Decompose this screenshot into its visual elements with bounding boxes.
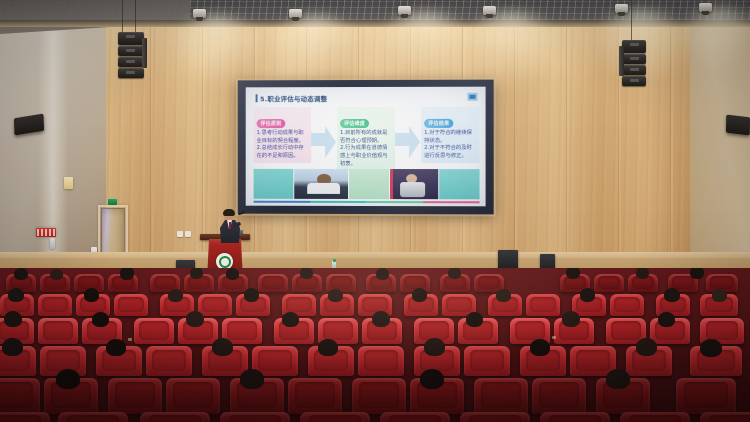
person-head xyxy=(562,311,580,327)
seat[interactable] xyxy=(0,412,50,422)
person-head xyxy=(282,312,299,327)
body-line: 1.目前所有的成就是否符合心理预期。 xyxy=(340,130,392,145)
stage-event-photo xyxy=(390,169,438,199)
person-head xyxy=(530,339,550,356)
light-switch[interactable] xyxy=(177,231,183,237)
body-line: 2.行为成果在道德情感上与职业价值观与初衷。 xyxy=(340,145,392,168)
audience-member xyxy=(372,311,390,327)
speaker-cabinet xyxy=(622,76,646,86)
column-header: 评估原则 xyxy=(257,119,286,128)
audience-member xyxy=(530,339,550,356)
seat[interactable] xyxy=(300,412,370,422)
seat[interactable] xyxy=(460,412,530,422)
person-head xyxy=(376,268,389,280)
column-header: 评估维度 xyxy=(340,119,369,128)
room-shell: 5.职业评估与动态调整 评估原则 1.思考行动成果与职业目标的契合程度。 2.总… xyxy=(0,0,750,422)
audience-member xyxy=(168,289,183,302)
audience-member xyxy=(300,268,313,279)
auditorium-scene: 5.职业评估与动态调整 评估原则 1.思考行动成果与职业目标的契合程度。 2.总… xyxy=(0,0,750,422)
slide-column-principles: 评估原则 1.思考行动成果与职业目标的契合程度。 2.总结成长行动中存在的不足和… xyxy=(254,107,312,163)
flow-arrow-icon xyxy=(311,123,337,157)
seat[interactable] xyxy=(38,294,72,316)
title-accent-bar xyxy=(256,94,257,102)
body-line: 2.总结成长行动中存在的不足和原因。 xyxy=(257,145,309,160)
bar-segment xyxy=(366,201,423,203)
audience-member xyxy=(700,339,722,357)
person-head xyxy=(190,268,203,279)
presenter-hair xyxy=(223,209,235,216)
speaker-rigging-bracket xyxy=(619,46,624,76)
presenter-tie xyxy=(229,222,231,229)
seat-row xyxy=(0,342,750,374)
person-head xyxy=(92,312,109,327)
line-array-speaker-left xyxy=(118,32,144,79)
audience-member xyxy=(690,268,704,279)
ceiling-spotlight xyxy=(699,3,712,12)
audience-member xyxy=(240,369,264,389)
audience-member xyxy=(424,338,445,356)
seat[interactable] xyxy=(352,378,406,414)
seat[interactable] xyxy=(358,346,404,376)
person-head xyxy=(424,338,445,356)
speaker-at-podium-photo xyxy=(294,169,348,199)
seat[interactable] xyxy=(700,412,750,422)
speaker-suspension-wire xyxy=(135,0,136,34)
photo-red-accent xyxy=(390,169,393,199)
person-head xyxy=(240,369,264,389)
aisle-step-light xyxy=(128,338,132,341)
seat-row xyxy=(0,374,750,412)
audience-member xyxy=(562,311,580,327)
audience-member xyxy=(106,339,126,356)
seat[interactable] xyxy=(610,294,644,316)
seat[interactable] xyxy=(134,318,174,344)
speaker-cabinet xyxy=(622,65,646,75)
audience-member xyxy=(580,288,595,302)
audience-member xyxy=(466,312,483,327)
ceiling-spotlight xyxy=(289,9,302,18)
column-body: 1.目前所有的成就是否符合心理预期。 2.行为成果在道德情感上与职业价值观与初衷… xyxy=(340,130,392,168)
audience-member xyxy=(412,288,427,302)
speaker-suspension-wire xyxy=(631,0,632,42)
slide-columns: 评估原则 1.思考行动成果与职业目标的契合程度。 2.总结成长行动中存在的不足和… xyxy=(254,107,480,173)
photo-filler-block xyxy=(349,169,389,199)
person-head xyxy=(372,311,390,327)
person-head xyxy=(168,289,183,302)
bar-segment xyxy=(310,201,366,203)
audience-member xyxy=(376,268,389,280)
person-head xyxy=(186,311,204,327)
speaker-suspension-wire xyxy=(122,0,123,34)
projection-screen[interactable]: 5.职业评估与动态调整 评估原则 1.思考行动成果与职业目标的契合程度。 2.总… xyxy=(238,80,494,215)
audience-member xyxy=(664,288,680,302)
audience-member xyxy=(244,288,259,302)
column-header: 评估结果 xyxy=(424,119,453,128)
seat[interactable] xyxy=(540,412,610,422)
seat[interactable] xyxy=(38,318,78,344)
audience-member xyxy=(448,268,461,279)
seat[interactable] xyxy=(0,378,40,414)
wall-speaker-right xyxy=(726,114,750,135)
audience-member xyxy=(606,369,630,389)
person-head xyxy=(2,338,23,356)
audience-member xyxy=(190,268,203,279)
person-head xyxy=(318,339,338,356)
person-head xyxy=(8,288,24,302)
person-head xyxy=(448,268,461,279)
bar-segment xyxy=(254,201,310,203)
person-head xyxy=(420,369,444,389)
audience-member xyxy=(120,268,134,280)
person-head xyxy=(606,369,630,389)
seat[interactable] xyxy=(380,412,450,422)
slide-column-results: 评估结果 1.对于符合的继续保持状态。 2.对于不符合的及时进行反思与修正。 xyxy=(421,107,479,163)
audience-member xyxy=(50,269,63,280)
person-head xyxy=(496,289,511,302)
speaker-cabinet xyxy=(118,57,144,67)
light-switch[interactable] xyxy=(185,231,191,237)
person-head xyxy=(580,288,595,302)
photo-filler-block xyxy=(439,169,479,199)
audience-member xyxy=(318,339,338,356)
audience-member xyxy=(496,289,511,302)
seat[interactable] xyxy=(108,378,162,414)
audience-member xyxy=(8,288,24,302)
audience-member xyxy=(282,312,299,327)
aisle-step-light xyxy=(552,336,556,339)
person-head xyxy=(4,311,22,327)
seat[interactable] xyxy=(464,346,510,376)
person-head xyxy=(244,288,259,302)
audience-member xyxy=(212,338,233,356)
speaker-cabinet xyxy=(622,54,646,64)
seat[interactable] xyxy=(526,294,560,316)
audience-member xyxy=(566,268,580,279)
speaker-cabinet xyxy=(622,40,646,53)
wall-control-panel[interactable] xyxy=(64,177,73,189)
seat[interactable] xyxy=(146,346,192,376)
body-line: 1.对于符合的继续保持状态。 xyxy=(424,130,476,145)
slide-column-dimensions: 评估维度 1.目前所有的成就是否符合心理预期。 2.行为成果在道德情感上与职业价… xyxy=(337,107,395,170)
audience-member xyxy=(636,268,649,279)
seat-row xyxy=(0,412,750,422)
slide-photo-strip xyxy=(254,169,480,199)
seat[interactable] xyxy=(220,412,290,422)
ceiling-spotlight xyxy=(193,9,206,18)
person-head xyxy=(690,268,704,279)
person-head xyxy=(56,369,80,389)
person-head xyxy=(664,288,680,302)
person-head xyxy=(84,288,99,302)
column-body: 1.思考行动成果与职业目标的契合程度。 2.总结成长行动中存在的不足和原因。 xyxy=(257,130,309,161)
audience-member xyxy=(84,288,99,302)
line-array-speaker-right xyxy=(622,40,646,87)
audience-member xyxy=(420,369,444,389)
audience-member xyxy=(636,338,657,356)
ceiling-edge-trim xyxy=(0,20,750,27)
person-head xyxy=(212,338,233,356)
audience-member xyxy=(226,268,239,280)
audience-member xyxy=(56,369,80,389)
person-head xyxy=(106,339,126,356)
column-body: 1.对于符合的继续保持状态。 2.对于不符合的及时进行反思与修正。 xyxy=(424,130,476,161)
seat[interactable] xyxy=(140,412,210,422)
seat[interactable] xyxy=(532,378,586,414)
presentation-slide: 5.职业评估与动态调整 评估原则 1.思考行动成果与职业目标的契合程度。 2.总… xyxy=(246,87,486,207)
seat[interactable] xyxy=(288,378,342,414)
seat-row xyxy=(0,270,750,290)
audience-member xyxy=(2,338,23,356)
seat[interactable] xyxy=(166,378,220,414)
ceiling-spotlight xyxy=(615,4,628,13)
flow-arrow-icon xyxy=(395,123,421,157)
slide-bottom-bar xyxy=(254,201,480,204)
audience-member xyxy=(4,311,22,327)
audience-member xyxy=(186,311,204,327)
fire-sign-text xyxy=(37,229,55,236)
person-head xyxy=(300,268,313,279)
fire-equipment-sign xyxy=(36,228,56,237)
fire-extinguisher xyxy=(50,238,55,249)
person-head xyxy=(700,339,722,357)
audience-member xyxy=(92,312,109,327)
speaker-cabinet xyxy=(118,32,144,45)
seat[interactable] xyxy=(114,294,148,316)
body-line: 1.思考行动成果与职业目标的契合程度。 xyxy=(257,130,309,145)
ceiling-spotlight xyxy=(483,6,496,15)
audience-member xyxy=(712,289,727,302)
bar-segment xyxy=(423,201,480,203)
speaker-cabinet xyxy=(118,46,144,56)
person-head xyxy=(226,268,239,280)
person-head xyxy=(14,268,28,280)
speaker-cabinet xyxy=(118,68,144,78)
person-head xyxy=(50,269,63,280)
audience-member xyxy=(658,312,675,327)
seat[interactable] xyxy=(676,378,736,414)
seat[interactable] xyxy=(620,412,690,422)
slide-title-text: 5.职业评估与动态调整 xyxy=(260,93,327,103)
person-head xyxy=(636,338,657,356)
person-head xyxy=(120,268,134,280)
audience-seating-area xyxy=(0,268,750,422)
person-head xyxy=(466,312,483,327)
person-head xyxy=(328,289,343,302)
body-line: 2.对于不符合的及时进行反思与修正。 xyxy=(424,145,476,160)
person-head xyxy=(712,289,727,302)
ceiling-spotlight xyxy=(398,6,411,15)
person-head xyxy=(412,288,427,302)
slide-title: 5.职业评估与动态调整 xyxy=(256,93,328,103)
monitor-icon xyxy=(467,93,477,101)
speaker-rigging-bracket xyxy=(142,38,147,68)
seat[interactable] xyxy=(474,378,528,414)
audience-member xyxy=(14,268,28,280)
person-head xyxy=(566,268,580,279)
seat[interactable] xyxy=(58,412,128,422)
person-head xyxy=(636,268,649,279)
person-head xyxy=(658,312,675,327)
audience-member xyxy=(328,289,343,302)
photo-filler-block xyxy=(254,169,294,199)
